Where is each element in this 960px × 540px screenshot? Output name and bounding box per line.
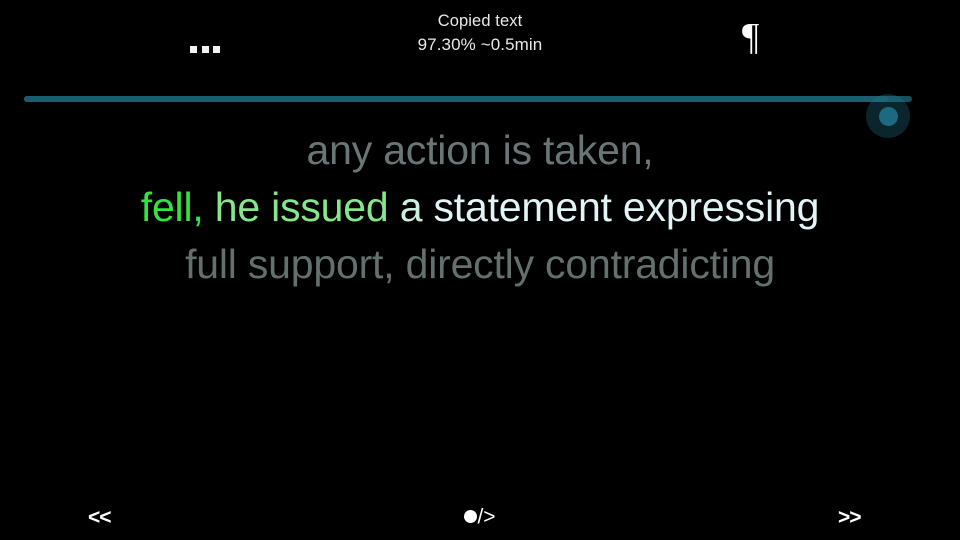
reader-line: fell, he issued a statement expressing	[0, 179, 960, 236]
reader-line: full support, directly contradicting	[0, 236, 960, 293]
reading-stats: 97.30% ~0.5min	[0, 36, 960, 53]
slider-fill	[24, 96, 888, 102]
document-info: Copied text 97.30% ~0.5min	[0, 13, 960, 53]
playback-controls: << /> >>	[0, 494, 960, 540]
reader-line: any action is taken,	[0, 122, 960, 179]
reader-word-segment[interactable]: full support, directly contradicting	[185, 241, 775, 287]
play-separator-label: />	[477, 505, 495, 528]
slider-track[interactable]	[24, 96, 912, 102]
reader-word-segment[interactable]: statement expressing	[422, 184, 819, 230]
header-bar: Copied text 97.30% ~0.5min ¶	[0, 0, 960, 80]
reader-word-segment[interactable]	[389, 184, 400, 230]
document-title: Copied text	[0, 13, 960, 30]
reading-pane: any action is taken,fell, he issued a st…	[0, 122, 960, 502]
reader-word-segment[interactable]: he issued	[215, 184, 389, 230]
play-dot-icon	[464, 510, 477, 523]
play-pause-button[interactable]: />	[0, 505, 960, 529]
reader-word-segment[interactable]: any action is taken,	[307, 127, 654, 173]
reader-word-segment[interactable]: fell,	[141, 184, 204, 230]
progress-slider[interactable]	[0, 80, 960, 120]
reader-word-segment[interactable]	[204, 184, 215, 230]
pilcrow-icon[interactable]: ¶	[742, 18, 759, 56]
next-button[interactable]: >>	[838, 506, 861, 530]
reader-word-segment[interactable]: a	[400, 184, 423, 230]
